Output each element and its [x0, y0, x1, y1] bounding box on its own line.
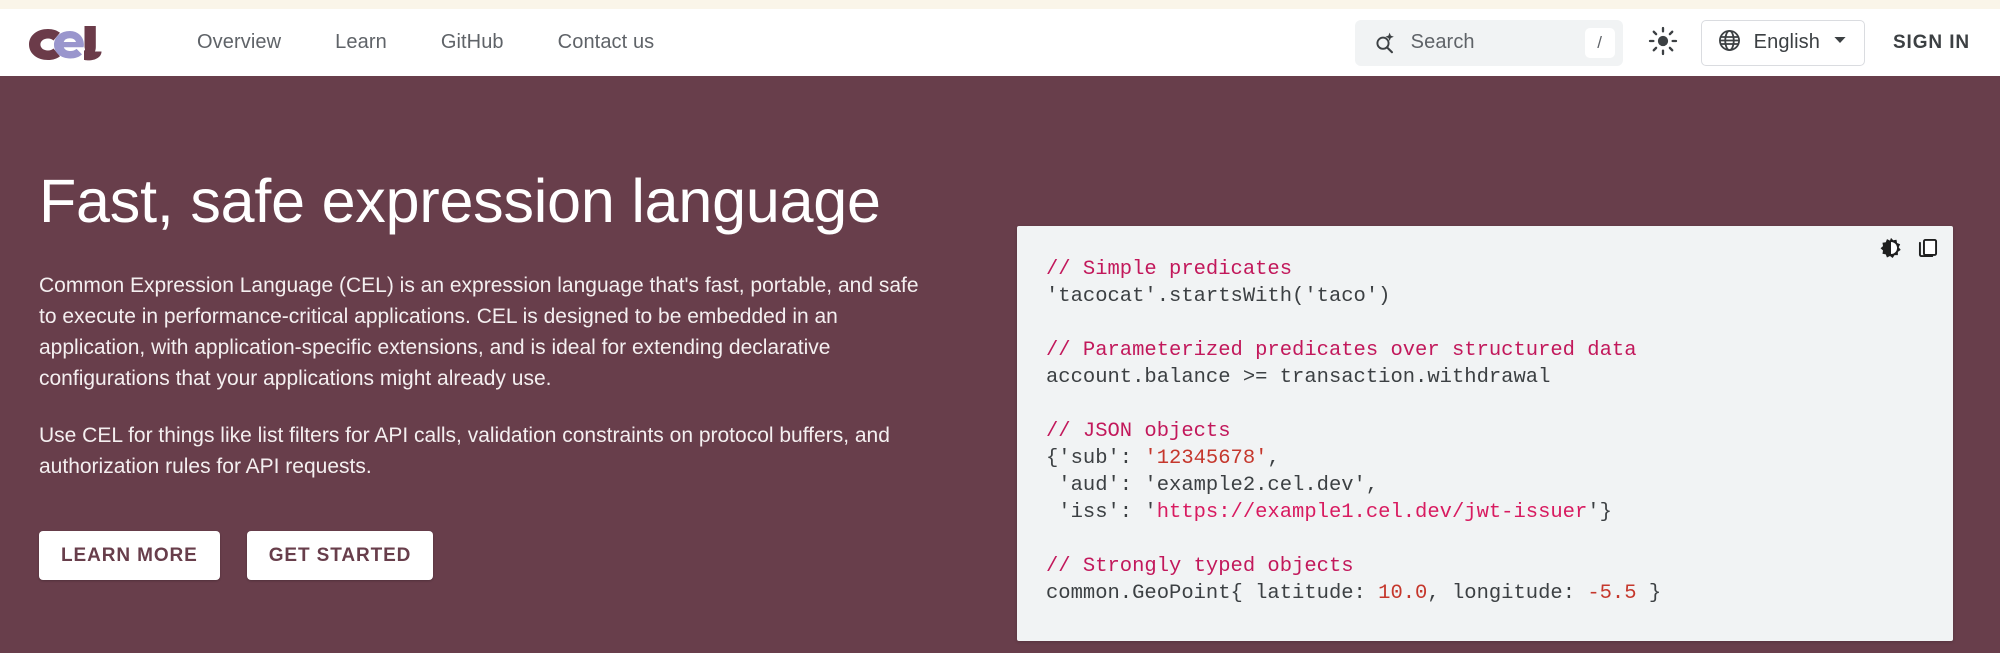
contrast-toggle-icon[interactable] [1878, 235, 1904, 261]
hero-section: Fast, safe expression language Common Ex… [0, 76, 2000, 653]
top-accent-strip [0, 0, 2000, 9]
search-shortcut-badge: / [1585, 28, 1615, 58]
sign-in-button[interactable]: SIGN IN [1893, 32, 1970, 54]
hero-code-column: // Simple predicates 'tacocat'.startsWit… [1000, 76, 2000, 653]
code-line-tacocat: 'tacocat'.startsWith('taco') [1046, 285, 1390, 308]
copy-icon[interactable] [1915, 235, 1941, 261]
language-selector[interactable]: English [1701, 20, 1865, 66]
site-header: Overview Learn GitHub Contact us Search … [0, 9, 2000, 76]
search-sparkle-icon [1373, 31, 1397, 55]
code-line-account-balance: account.balance >= transaction.withdrawa… [1046, 366, 1550, 389]
nav-item-overview[interactable]: Overview [170, 31, 308, 54]
search-box[interactable]: Search / [1355, 20, 1623, 66]
code-line-comment-json-objects: // JSON objects [1046, 420, 1231, 443]
language-selected-value: English [1754, 31, 1820, 54]
code-line-json-sub: {'sub': '12345678', [1046, 447, 1280, 470]
hero-copy: Fast, safe expression language Common Ex… [0, 76, 1000, 653]
nav-item-contact-us[interactable]: Contact us [531, 31, 682, 54]
nav-item-learn[interactable]: Learn [308, 31, 414, 54]
code-line-comment-parameterized-predicates: // Parameterized predicates over structu… [1046, 339, 1637, 362]
code-line-json-aud: 'aud': 'example2.cel.dev', [1046, 474, 1378, 497]
hero-cta-group: LEARN MORE GET STARTED [39, 531, 940, 580]
learn-more-button[interactable]: LEARN MORE [39, 531, 220, 580]
cel-logo-mark [26, 23, 104, 63]
code-panel-actions [1878, 235, 1941, 261]
get-started-button[interactable]: GET STARTED [247, 531, 434, 580]
search-input[interactable]: Search [1411, 31, 1585, 54]
hero-paragraph-1: Common Expression Language (CEL) is an e… [39, 270, 940, 394]
chevron-down-icon [1832, 32, 1848, 53]
primary-nav: Overview Learn GitHub Contact us [170, 31, 681, 54]
theme-toggle-button[interactable] [1637, 17, 1689, 69]
nav-item-github[interactable]: GitHub [414, 31, 531, 54]
sun-icon [1648, 26, 1678, 59]
code-sample[interactable]: // Simple predicates 'tacocat'.startsWit… [1046, 256, 1953, 607]
cel-logo[interactable] [26, 23, 106, 63]
page-title: Fast, safe expression language [39, 166, 940, 236]
code-line-comment-strongly-typed: // Strongly typed objects [1046, 555, 1354, 578]
code-line-json-iss: 'iss': 'https://example1.cel.dev/jwt-iss… [1046, 501, 1612, 524]
globe-icon [1717, 28, 1742, 58]
code-sample-panel: // Simple predicates 'tacocat'.startsWit… [1017, 226, 1953, 641]
code-line-geopoint: common.GeoPoint{ latitude: 10.0, longitu… [1046, 582, 1661, 605]
hero-paragraph-2: Use CEL for things like list filters for… [39, 420, 940, 482]
header-actions: Search / [1355, 17, 1976, 69]
code-line-comment-simple-predicates: // Simple predicates [1046, 258, 1292, 281]
